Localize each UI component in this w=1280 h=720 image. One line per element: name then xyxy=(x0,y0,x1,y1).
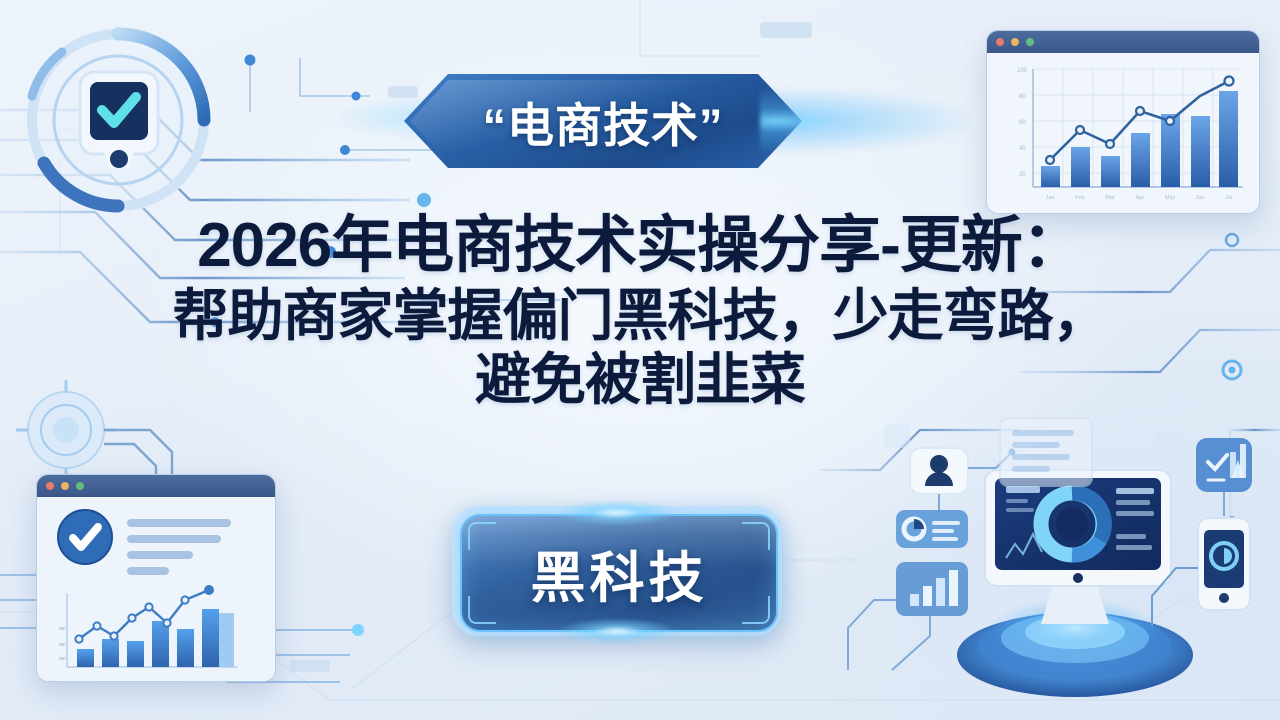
cta-corner-tl xyxy=(468,522,496,550)
cta-badge[interactable]: 黑科技 xyxy=(452,506,782,636)
svg-text:Apr: Apr xyxy=(1136,195,1145,201)
shield-check-device-icon xyxy=(26,28,210,212)
cta-corner-br xyxy=(742,596,770,624)
window-titlebar xyxy=(987,31,1259,53)
cta-corner-bl xyxy=(468,596,496,624)
svg-text:20: 20 xyxy=(1019,172,1026,178)
document-panel xyxy=(1000,418,1092,486)
bar-chart-card xyxy=(848,562,968,670)
svg-text:Jun: Jun xyxy=(1196,195,1205,201)
title-line-3: 避免被割韭菜 xyxy=(0,348,1280,412)
report-browser-window xyxy=(36,474,276,682)
svg-text:May: May xyxy=(1165,195,1176,201)
desktop-monitor-dashboard xyxy=(957,470,1193,697)
page-title: 2026年电商技术实操分享-更新： 帮助商家掌握偏门黑科技，少走弯路， 避免被割… xyxy=(0,214,1280,412)
checklist-card xyxy=(1196,438,1252,516)
minimize-dot-icon[interactable] xyxy=(61,482,69,490)
svg-text:100: 100 xyxy=(1017,68,1028,74)
verified-check-icon xyxy=(58,510,112,564)
window-titlebar xyxy=(37,475,275,497)
analytics-browser-window: 10080 6040 20 JanFeb MarApr xyxy=(986,30,1260,214)
title-line-2: 帮助商家掌握偏门黑科技，少走弯路， xyxy=(0,284,1280,348)
svg-text:Mar: Mar xyxy=(1105,195,1115,201)
top-badge-label: “电商技术” xyxy=(483,87,724,156)
svg-text:Jul: Jul xyxy=(1225,195,1232,201)
svg-text:80: 80 xyxy=(1019,94,1026,100)
svg-text:60: 60 xyxy=(1019,120,1026,126)
svg-text:Jan: Jan xyxy=(1046,195,1055,201)
report-content xyxy=(37,497,275,681)
svg-text:Feb: Feb xyxy=(1075,195,1084,201)
cta-corner-tr xyxy=(742,522,770,550)
cta-badge-label: 黑科技 xyxy=(462,516,776,630)
top-badge[interactable]: “电商技术” xyxy=(404,74,802,168)
pie-chart-card xyxy=(896,510,968,548)
close-dot-icon[interactable] xyxy=(46,482,54,490)
analytics-chart: 10080 6040 20 JanFeb MarApr xyxy=(987,53,1259,213)
maximize-dot-icon[interactable] xyxy=(1026,38,1034,46)
cta-badge-body[interactable]: 黑科技 xyxy=(460,514,778,632)
title-line-1: 2026年电商技术实操分享-更新： xyxy=(0,214,1280,278)
close-dot-icon[interactable] xyxy=(996,38,1004,46)
svg-text:40: 40 xyxy=(1019,146,1026,152)
minimize-dot-icon[interactable] xyxy=(1011,38,1019,46)
maximize-dot-icon[interactable] xyxy=(76,482,84,490)
poster-canvas: 10080 6040 20 JanFeb MarApr xyxy=(0,0,1280,720)
